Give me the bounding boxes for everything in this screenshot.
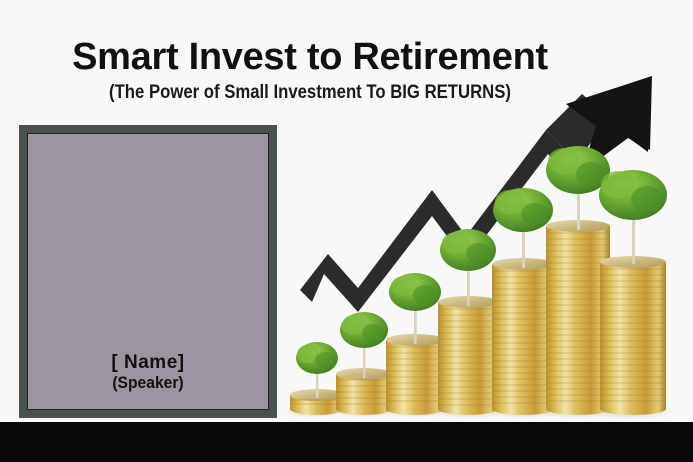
speaker-name-label: [ Name] [28, 352, 268, 374]
title-block: Smart Invest to Retirement (The Power of… [0, 38, 620, 104]
coin-stack-7 [599, 170, 667, 415]
speaker-caption: [ Name] (Speaker) [28, 352, 268, 393]
bottom-bar [0, 422, 693, 462]
page-title: Smart Invest to Retirement [0, 38, 620, 78]
coin-stack-3 [386, 273, 444, 415]
coin-stack-5 [492, 188, 554, 415]
speaker-photo-area: [ Name] (Speaker) [27, 133, 269, 410]
page-subtitle: (The Power of Small Investment To BIG RE… [37, 82, 583, 104]
coin-stack-4 [438, 229, 498, 415]
speaker-role-label: (Speaker) [38, 373, 259, 393]
coin-stack-2 [336, 312, 392, 415]
poster-canvas: Smart Invest to Retirement (The Power of… [0, 0, 693, 462]
coin-stack-1 [290, 342, 344, 415]
speaker-photo-placeholder[interactable]: [ Name] (Speaker) [19, 125, 277, 418]
